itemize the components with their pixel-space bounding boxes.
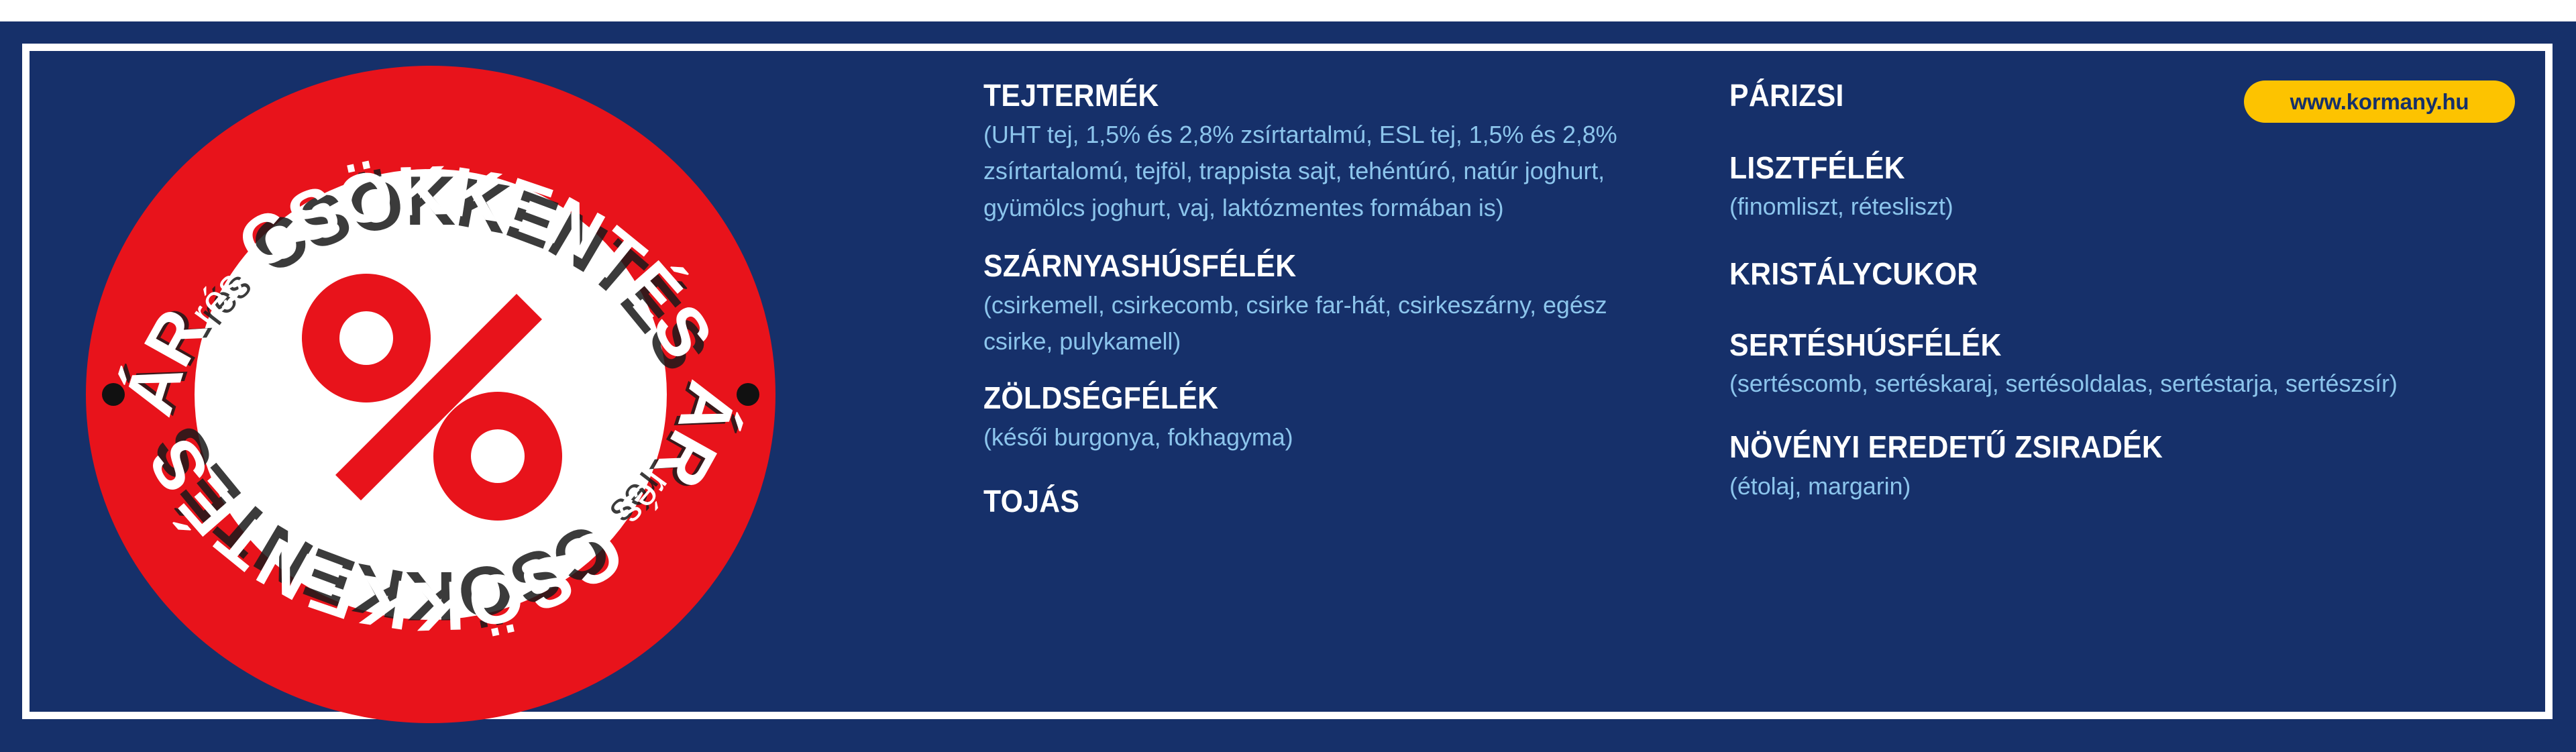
product-group-novenyi-zsiradek: NÖVÉNYI EREDETŰ ZSIRADÉK (étolaj, margar… xyxy=(1729,431,2414,504)
category-heading-tojas: TOJÁS xyxy=(983,485,1613,519)
product-column-two: PÁRIZSI LISZTFÉLÉK (finomliszt, réteslis… xyxy=(1729,79,2414,505)
product-group-kristalycukor: KRISTÁLYCUKOR xyxy=(1729,258,2414,291)
category-heading-novenyi-zsiradek: NÖVÉNYI EREDETŰ ZSIRADÉK xyxy=(1729,431,2366,464)
category-detail-serteshusfelek: (sertéscomb, sertéskaraj, sertésoldalas,… xyxy=(1729,366,2414,402)
poster-root: ÁRrés CSÖKKENTÉS ÁRrés CSÖKKENTÉS ÁRrés … xyxy=(0,0,2576,752)
category-detail-lisztfelek: (finomliszt, rétesliszt) xyxy=(1729,189,2414,225)
product-group-serteshusfelek: SERTÉSHÚSFÉLÉK (sertéscomb, sertéskaraj,… xyxy=(1729,329,2414,402)
product-group-zoldsegfelek: ZÖLDSÉGFÉLÉK (késői burgonya, fokhagyma) xyxy=(983,382,1661,455)
product-group-lisztfelek: LISZTFÉLÉK (finomliszt, rétesliszt) xyxy=(1729,152,2414,225)
category-heading-zoldsegfelek: ZÖLDSÉGFÉLÉK xyxy=(983,382,1613,415)
category-heading-szarnyashusfelek: SZÁRNYASHÚSFÉLÉK xyxy=(983,250,1613,283)
category-heading-kristalycukor: KRISTÁLYCUKOR xyxy=(1729,258,2366,291)
category-detail-szarnyashusfelek: (csirkemell, csirkecomb, csirke far-hát,… xyxy=(983,287,1661,360)
category-heading-serteshusfelek: SERTÉSHÚSFÉLÉK xyxy=(1729,329,2366,362)
product-group-tojas: TOJÁS xyxy=(983,485,1661,519)
kormany-url-badge[interactable]: www.kormany.hu xyxy=(2244,80,2515,123)
category-detail-novenyi-zsiradek: (étolaj, margarin) xyxy=(1729,468,2414,505)
category-heading-lisztfelek: LISZTFÉLÉK xyxy=(1729,152,2366,185)
kormany-url-label: www.kormany.hu xyxy=(2290,89,2469,115)
arres-csokkentes-seal: ÁRrés CSÖKKENTÉS ÁRrés CSÖKKENTÉS ÁRrés … xyxy=(86,66,775,723)
product-column-one: TEJTERMÉK (UHT tej, 1,5% és 2,8% zsírtar… xyxy=(983,79,1661,519)
category-detail-tejtermek: (UHT tej, 1,5% és 2,8% zsírtartalmú, ESL… xyxy=(983,117,1661,227)
category-detail-zoldsegfelek: (késői burgonya, fokhagyma) xyxy=(983,419,1661,456)
category-heading-tejtermek: TEJTERMÉK xyxy=(983,79,1613,113)
product-group-tejtermek: TEJTERMÉK (UHT tej, 1,5% és 2,8% zsírtar… xyxy=(983,79,1661,227)
product-group-szarnyashusfelek: SZÁRNYASHÚSFÉLÉK (csirkemell, csirkecomb… xyxy=(983,250,1661,360)
